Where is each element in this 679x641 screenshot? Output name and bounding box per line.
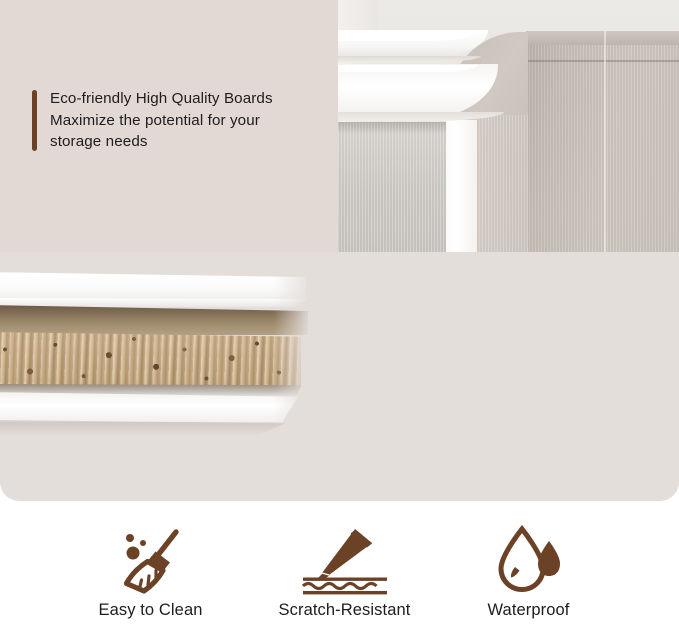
feature-label: Easy to Clean [98, 601, 202, 620]
cabinet-side-edge-line [604, 31, 606, 252]
cabinet-inner-shadow [338, 122, 446, 134]
feature-label: Scratch-Resistant [279, 601, 411, 620]
board-core-shadow [0, 305, 308, 335]
cabinet-panel-seam [526, 60, 679, 62]
feature-easy-to-clean: Easy to Clean [68, 523, 234, 620]
cabinet-side-panel [526, 31, 679, 252]
board-bottom-laminate [0, 392, 298, 422]
headline-block: Eco-friendly High Quality Boards Maximiz… [32, 88, 273, 153]
cabinet-inner-panel [338, 122, 446, 252]
feature-label: Waterproof [487, 601, 569, 620]
particleboard-cross-section [0, 272, 322, 477]
knife-scratch-icon [293, 523, 397, 595]
cabinet-side-top-edge [526, 31, 679, 45]
cabinet-corner-photo [338, 0, 679, 252]
water-droplet-icon [492, 523, 566, 595]
broom-icon [114, 523, 188, 595]
board-edge-fade [274, 252, 322, 492]
cabinet-white-stile [446, 120, 477, 252]
board-top-edge [0, 298, 308, 307]
feature-scratch-resistant: Scratch-Resistant [262, 523, 428, 620]
board-drop-shadow [0, 420, 286, 436]
middle-section: Natural Color Surface Thick Engineered W… [0, 252, 679, 501]
board-top-laminate [0, 272, 306, 300]
product-infographic: Eco-friendly High Quality Boards Maximiz… [0, 0, 679, 641]
headline-text: Eco-friendly High Quality Boards Maximiz… [50, 88, 273, 153]
accent-bar [32, 90, 37, 151]
feature-icon-row: Easy to Clean Scratch-Resistant [0, 501, 679, 641]
board-particle-core [0, 332, 301, 390]
headline-panel: Eco-friendly High Quality Boards Maximiz… [0, 0, 338, 252]
top-section: Eco-friendly High Quality Boards Maximiz… [0, 0, 679, 252]
cabinet-crown-upper-highlight [338, 33, 474, 41]
feature-waterproof: Waterproof [446, 523, 612, 620]
